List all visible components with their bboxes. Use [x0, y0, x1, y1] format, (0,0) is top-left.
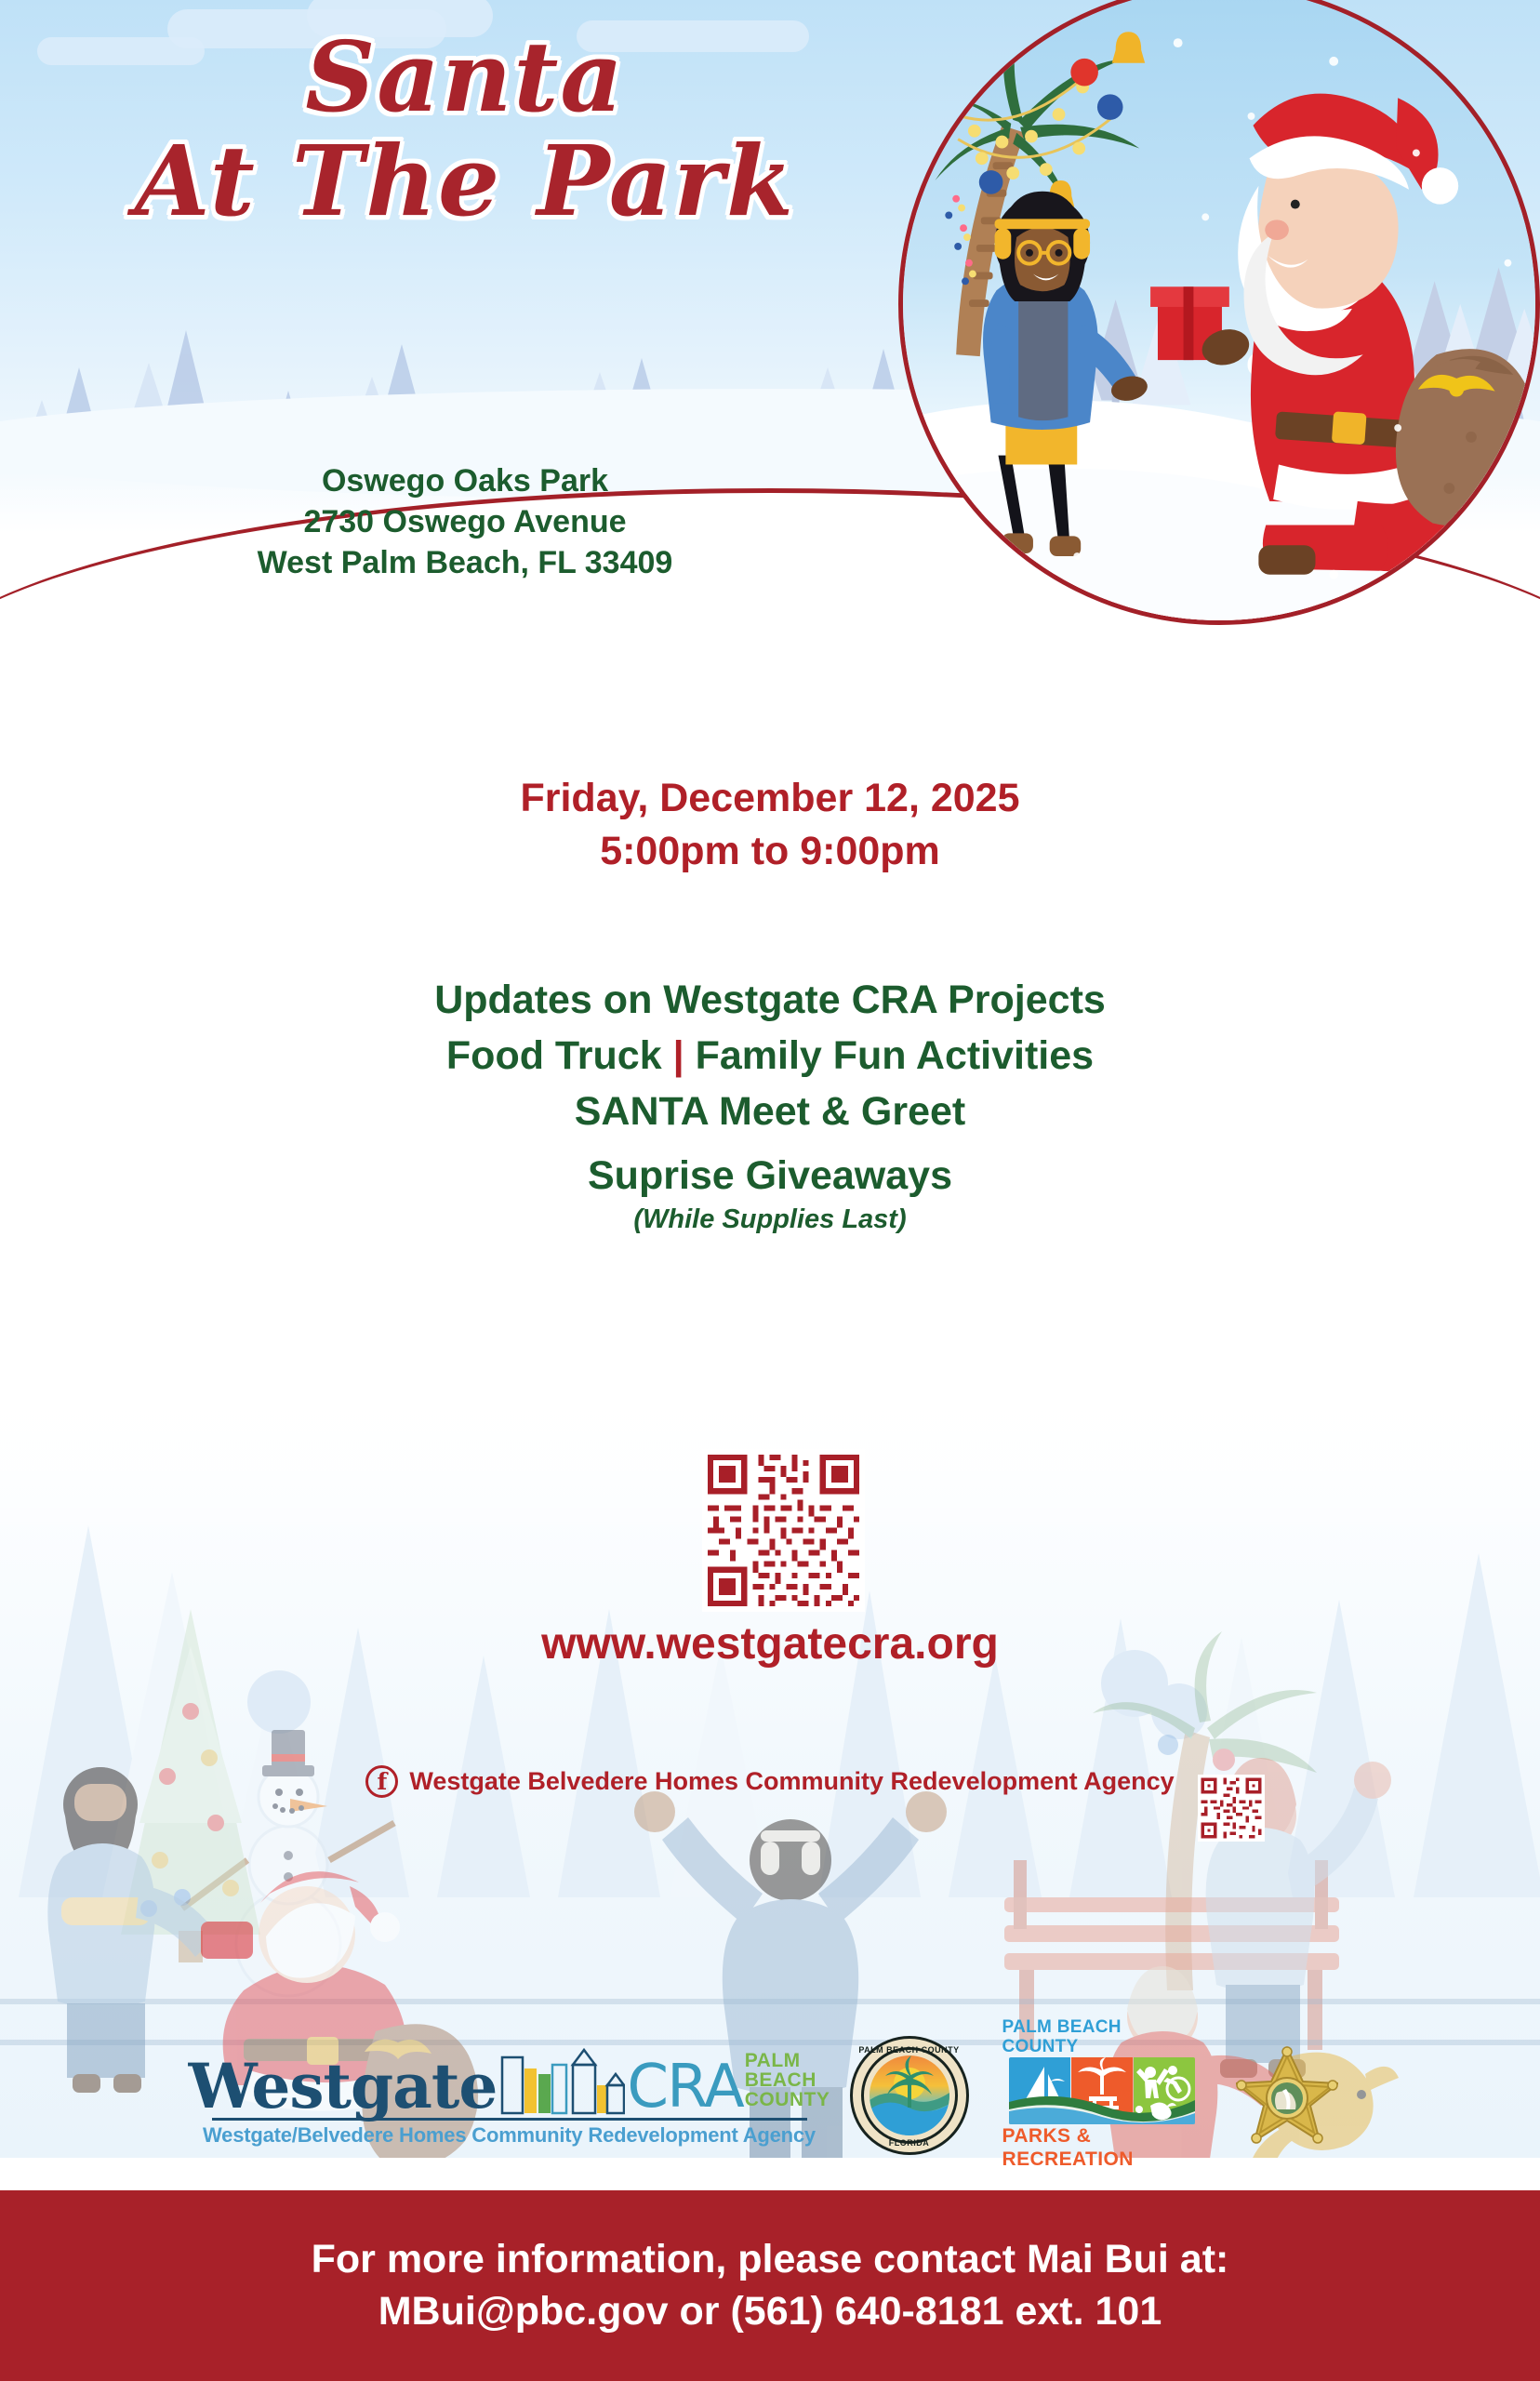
- pbc-line1: PALM: [745, 2051, 830, 2070]
- supplies-disclaimer: (While Supplies Last): [0, 1204, 1540, 1236]
- activity-item-1: Updates on Westgate CRA Projects: [0, 972, 1540, 1028]
- venue-street: 2730 Oswego Avenue: [0, 501, 930, 542]
- seal-artwork: [870, 2055, 949, 2135]
- palm-beach-county-tag: PALM BEACH COUNTY: [745, 2051, 830, 2115]
- seal-text-top: PALM BEACH COUNTY: [853, 2045, 966, 2055]
- westgate-subtitle: Westgate/Belvedere Homes Community Redev…: [203, 2123, 816, 2148]
- parks-header: PALM BEACH COUNTY: [1002, 2018, 1202, 2057]
- illustration-art: [903, 0, 1535, 620]
- santa-illustration: [898, 0, 1540, 625]
- contact-line-1: For more information, please contact Mai…: [312, 2234, 1229, 2286]
- event-date: Friday, December 12, 2025: [0, 772, 1540, 825]
- venue-city-state-zip: West Palm Beach, FL 33409: [0, 542, 930, 583]
- qr-code-facebook[interactable]: [1198, 1775, 1265, 1842]
- parks-footer: PARKS & RECREATION: [1002, 2124, 1202, 2171]
- activity-separator: |: [673, 1033, 684, 1078]
- activity-item-2b: Family Fun Activities: [696, 1033, 1095, 1078]
- logo-palm-beach-county-seal: PALM BEACH COUNTY FLORIDA: [850, 2036, 969, 2155]
- venue-name: Oswego Oaks Park: [0, 460, 930, 501]
- qr-code-website[interactable]: [702, 1449, 865, 1612]
- skyline-graphic: [498, 2042, 625, 2115]
- venue-address: Oswego Oaks Park 2730 Oswego Avenue West…: [0, 460, 930, 584]
- seal-text-bottom: FLORIDA: [853, 2138, 966, 2148]
- website-url[interactable]: www.westgatecra.org: [0, 1618, 1540, 1669]
- pbc-line3: COUNTY: [745, 2090, 830, 2109]
- logo-sheriff-badge: [1236, 2044, 1338, 2147]
- title-line-2: At The Park: [0, 132, 930, 231]
- cra-wordmark: CRA: [627, 2060, 742, 2115]
- parks-artwork: [1009, 2057, 1195, 2124]
- activity-item-2: Food Truck | Family Fun Activities: [0, 1028, 1540, 1084]
- contact-line-2: MBui@pbc.gov or (561) 640-8181 ext. 101: [378, 2286, 1162, 2338]
- event-time: 5:00pm to 9:00pm: [0, 825, 1540, 878]
- westgate-wordmark: Westgate: [189, 2058, 498, 2115]
- page-title: Santa At The Park: [0, 28, 930, 231]
- contact-footer: For more information, please contact Mai…: [0, 2190, 1540, 2381]
- event-schedule: Friday, December 12, 2025 5:00pm to 9:00…: [0, 772, 1540, 878]
- logo-divider-rule: [212, 2118, 807, 2121]
- activity-item-3: SANTA Meet & Greet: [0, 1084, 1540, 1139]
- partner-logos: Westgate CRA PALM BEACH COUNTY Westgate/…: [0, 2023, 1540, 2167]
- logo-westgate-cra: Westgate CRA PALM BEACH COUNTY Westgate/…: [203, 2042, 816, 2148]
- activity-item-2a: Food Truck: [446, 1033, 662, 1078]
- pbc-line2: BEACH: [745, 2070, 830, 2090]
- facebook-icon[interactable]: f: [365, 1765, 398, 1798]
- hero-winter-scene: Santa At The Park Oswego Oaks Park 2730 …: [0, 0, 1540, 651]
- activity-list: Updates on Westgate CRA Projects Food Tr…: [0, 972, 1540, 1236]
- facebook-page-name: Westgate Belvedere Homes Community Redev…: [409, 1767, 1174, 1796]
- title-line-1: Santa: [0, 28, 930, 126]
- logo-parks-recreation: PALM BEACH COUNTY: [1002, 2018, 1202, 2171]
- facebook-row[interactable]: f Westgate Belvedere Homes Community Red…: [0, 1765, 1540, 1798]
- activity-item-4: Suprise Giveaways: [0, 1148, 1540, 1204]
